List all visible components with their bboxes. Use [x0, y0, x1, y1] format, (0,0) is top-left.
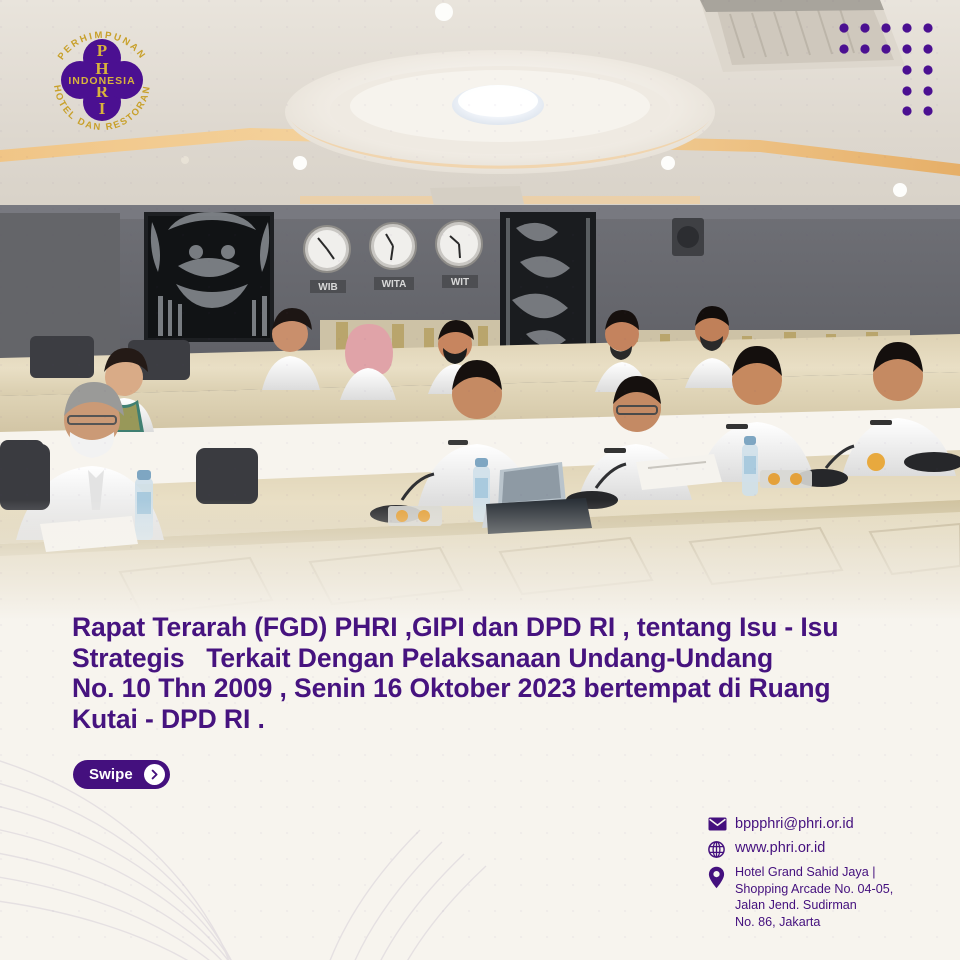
headline-line-4: Kutai - DPD RI . [72, 704, 902, 735]
svg-text:INDONESIA: INDONESIA [68, 75, 135, 87]
globe-icon [708, 840, 729, 859]
chevron-right-icon [144, 764, 165, 785]
location-pin-icon [708, 864, 729, 890]
swipe-label: Swipe [89, 766, 133, 783]
address-line-4: No. 86, Jakarta [735, 914, 893, 931]
svg-text:WITA: WITA [382, 279, 407, 290]
contact-address-row: Hotel Grand Sahid Jaya | Shopping Arcade… [708, 864, 938, 930]
headline-line-3: No. 10 Thn 2009 , Senin 16 Oktober 2023 … [72, 673, 902, 704]
headline-line-2: Strategis Terkait Dengan Pelaksanaan Und… [72, 643, 902, 674]
envelope-icon [708, 816, 729, 835]
contact-website-row[interactable]: www.phri.or.id [708, 840, 938, 859]
svg-text:P: P [97, 41, 107, 60]
contact-block: bppphri@phri.or.id www.phri.or.id [708, 816, 938, 930]
address-line-3: Jalan Jend. Sudirman [735, 897, 893, 914]
swipe-button[interactable]: Swipe [73, 760, 170, 789]
contact-email: bppphri@phri.or.id [735, 816, 854, 834]
headline-line-1: Rapat Terarah (FGD) PHRI ,GIPI dan DPD R… [72, 612, 902, 643]
poster-canvas: WIB WITA WIT [0, 0, 960, 960]
contact-website: www.phri.or.id [735, 840, 825, 858]
phri-logo: P H R I INDONESIA PERHIMPUNAN HOTEL DAN … [36, 14, 168, 146]
svg-text:WIT: WIT [451, 277, 469, 288]
dot-grid-decoration [832, 18, 942, 118]
page-title: Rapat Terarah (FGD) PHRI ,GIPI dan DPD R… [72, 612, 902, 734]
address-line-1: Hotel Grand Sahid Jaya | [735, 864, 893, 881]
svg-text:I: I [99, 99, 106, 118]
contact-address: Hotel Grand Sahid Jaya | Shopping Arcade… [735, 864, 893, 930]
svg-text:WIB: WIB [318, 282, 337, 293]
contact-email-row[interactable]: bppphri@phri.or.id [708, 816, 938, 835]
address-line-2: Shopping Arcade No. 04-05, [735, 881, 893, 898]
